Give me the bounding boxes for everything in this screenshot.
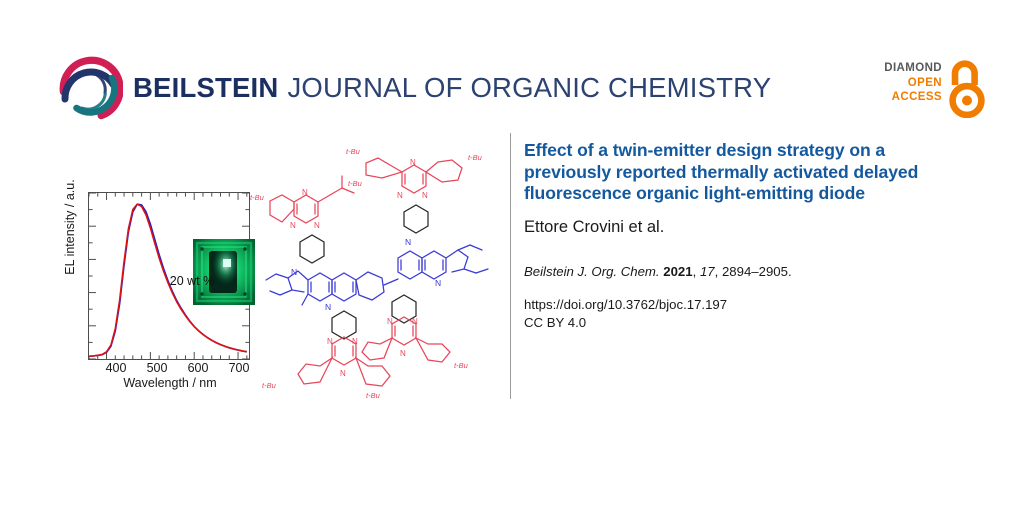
svg-text:t-Bu: t-Bu	[468, 153, 483, 162]
article-metadata: Effect of a twin-emitter design strategy…	[524, 140, 956, 333]
svg-text:N: N	[405, 237, 411, 247]
masthead: BEILSTEIN JOURNAL OF ORGANIC CHEMISTRY D…	[0, 0, 1024, 132]
svg-text:N: N	[291, 267, 297, 277]
svg-text:t-Bu: t-Bu	[348, 179, 363, 188]
svg-text:N: N	[397, 191, 403, 200]
citation-year: 2021	[663, 264, 692, 279]
chart-x-tick-0: 400	[99, 361, 133, 375]
svg-text:N: N	[387, 317, 393, 326]
svg-text:N: N	[290, 221, 296, 230]
chart-x-tick-1: 500	[140, 361, 174, 375]
open-access-lock-icon	[946, 60, 988, 118]
svg-text:N: N	[314, 221, 320, 230]
svg-text:N: N	[410, 158, 416, 167]
svg-text:N: N	[412, 317, 418, 326]
inset-caption: 20 wt %	[152, 274, 232, 288]
chart-x-tick-2: 600	[181, 361, 215, 375]
oa-label-diamond: DIAMOND	[884, 61, 942, 76]
citation-sep-2: ,	[715, 264, 722, 279]
journal-wordmark: BEILSTEIN JOURNAL OF ORGANIC CHEMISTRY	[133, 68, 771, 108]
el-spectrum-chart: EL intensity / a.u.	[56, 158, 264, 394]
citation-journal: Beilstein J. Org. Chem.	[524, 264, 660, 279]
svg-text:N: N	[325, 302, 331, 312]
article-authors: Ettore Crovini et al.	[524, 218, 956, 238]
citation-volume: 17	[700, 264, 715, 279]
svg-text:t-Bu: t-Bu	[262, 381, 277, 390]
svg-text:N: N	[352, 337, 358, 346]
svg-text:t-Bu: t-Bu	[346, 147, 361, 156]
svg-text:N: N	[435, 278, 441, 288]
wordmark-subtitle: JOURNAL OF ORGANIC CHEMISTRY	[287, 72, 771, 104]
svg-text:N: N	[327, 337, 333, 346]
svg-text:N: N	[400, 349, 406, 358]
article-license: CC BY 4.0	[524, 314, 956, 333]
article-title: Effect of a twin-emitter design strategy…	[524, 140, 944, 205]
svg-text:t-Bu: t-Bu	[366, 391, 381, 400]
graphical-abstract-figure: EL intensity / a.u.	[46, 138, 496, 400]
beilstein-swirl-logo-icon	[55, 55, 123, 123]
open-access-text: DIAMOND OPEN ACCESS	[884, 61, 942, 105]
svg-text:N: N	[340, 369, 346, 378]
chart-y-axis-label: EL intensity / a.u.	[63, 167, 77, 287]
open-access-badge: DIAMOND OPEN ACCESS	[868, 60, 988, 122]
wordmark-beilstein: BEILSTEIN	[133, 72, 278, 104]
article-doi-link[interactable]: https://doi.org/10.3762/bjoc.17.197	[524, 296, 956, 315]
svg-text:N: N	[302, 188, 308, 197]
citation-pages: 2894–2905.	[722, 264, 792, 279]
citation-sep-1: ,	[693, 264, 700, 279]
vertical-divider	[510, 133, 511, 399]
oa-label-access: ACCESS	[884, 90, 942, 105]
chart-x-axis-label: Wavelength / nm	[84, 376, 256, 390]
svg-text:t-Bu: t-Bu	[250, 193, 265, 202]
article-citation: Beilstein J. Org. Chem. 2021, 17, 2894–2…	[524, 263, 956, 280]
molecular-structure-diagram: N N N N	[242, 138, 500, 400]
svg-text:t-Bu: t-Bu	[454, 361, 469, 370]
oa-label-open: OPEN	[884, 76, 942, 91]
svg-text:N: N	[422, 191, 428, 200]
